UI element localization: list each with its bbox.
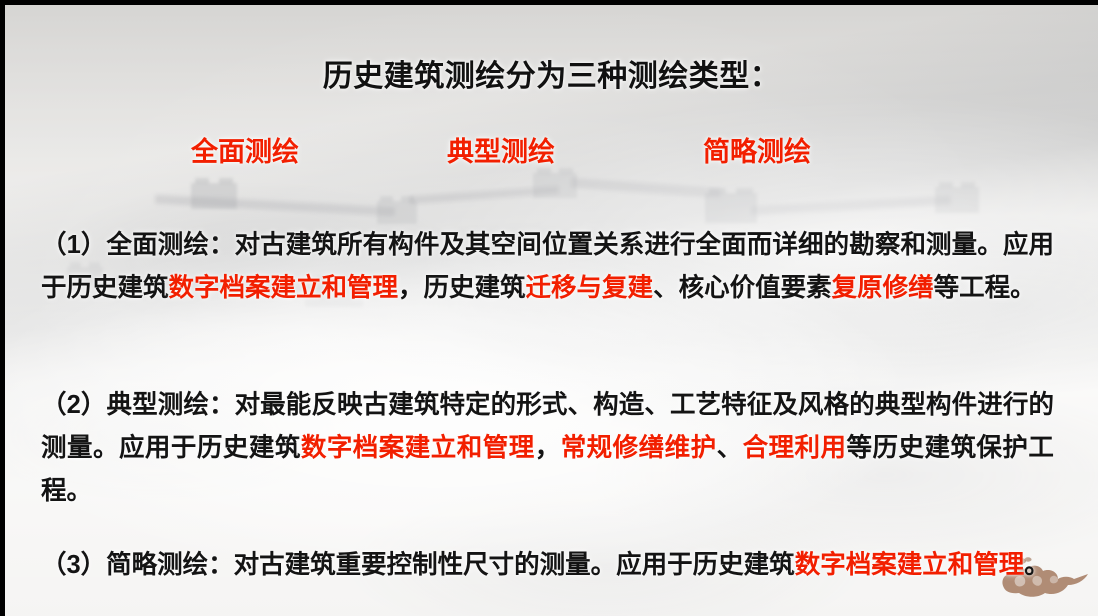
slide-content: 历史建筑测绘分为三种测绘类型： 全面测绘 典型测绘 简略测绘 （1）全面测绘：对… — [5, 5, 1098, 616]
type-label-comprehensive: 全面测绘 — [191, 130, 299, 169]
highlighted-term: 常规修缮维护 — [561, 434, 717, 462]
body-text-run: 。 — [1024, 551, 1050, 579]
body-text-run: 、核心价值要素 — [653, 274, 832, 302]
body-text-run: 等工程。 — [934, 274, 1036, 302]
page-title: 历史建筑测绘分为三种测绘类型： — [5, 51, 1098, 95]
slide-canvas: 历史建筑测绘分为三种测绘类型： 全面测绘 典型测绘 简略测绘 （1）全面测绘：对… — [0, 0, 1098, 616]
type-label-brief: 简略测绘 — [703, 130, 811, 169]
body-text-run: 、 — [717, 434, 743, 462]
body-text-run: ，历史建筑 — [398, 274, 526, 302]
paragraph-comprehensive: （1）全面测绘：对古建筑所有构件及其空间位置关系进行全面而详细的勘察和测量。应用… — [41, 224, 1054, 310]
highlighted-term: 数字档案建立和管理 — [301, 434, 535, 462]
highlighted-term: 数字档案建立和管理 — [795, 551, 1025, 579]
body-text-run: （3）简略测绘：对古建筑重要控制性尺寸的测量。应用于历史建筑 — [41, 551, 795, 579]
paragraph-typical: （2）典型测绘：对最能反映古建筑特定的形式、构造、工艺特征及风格的典型构件进行的… — [41, 384, 1054, 513]
type-label-typical: 典型测绘 — [447, 130, 555, 169]
highlighted-term: 数字档案建立和管理 — [169, 274, 399, 302]
highlighted-term: 迁移与复建 — [526, 274, 654, 302]
highlighted-term: 合理利用 — [743, 434, 847, 462]
highlighted-term: 复原修缮 — [832, 274, 934, 302]
measurement-type-row: 全面测绘 典型测绘 简略测绘 — [191, 130, 811, 169]
paragraph-brief: （3）简略测绘：对古建筑重要控制性尺寸的测量。应用于历史建筑数字档案建立和管理。 — [41, 544, 1054, 587]
body-text-run: ， — [535, 434, 561, 462]
